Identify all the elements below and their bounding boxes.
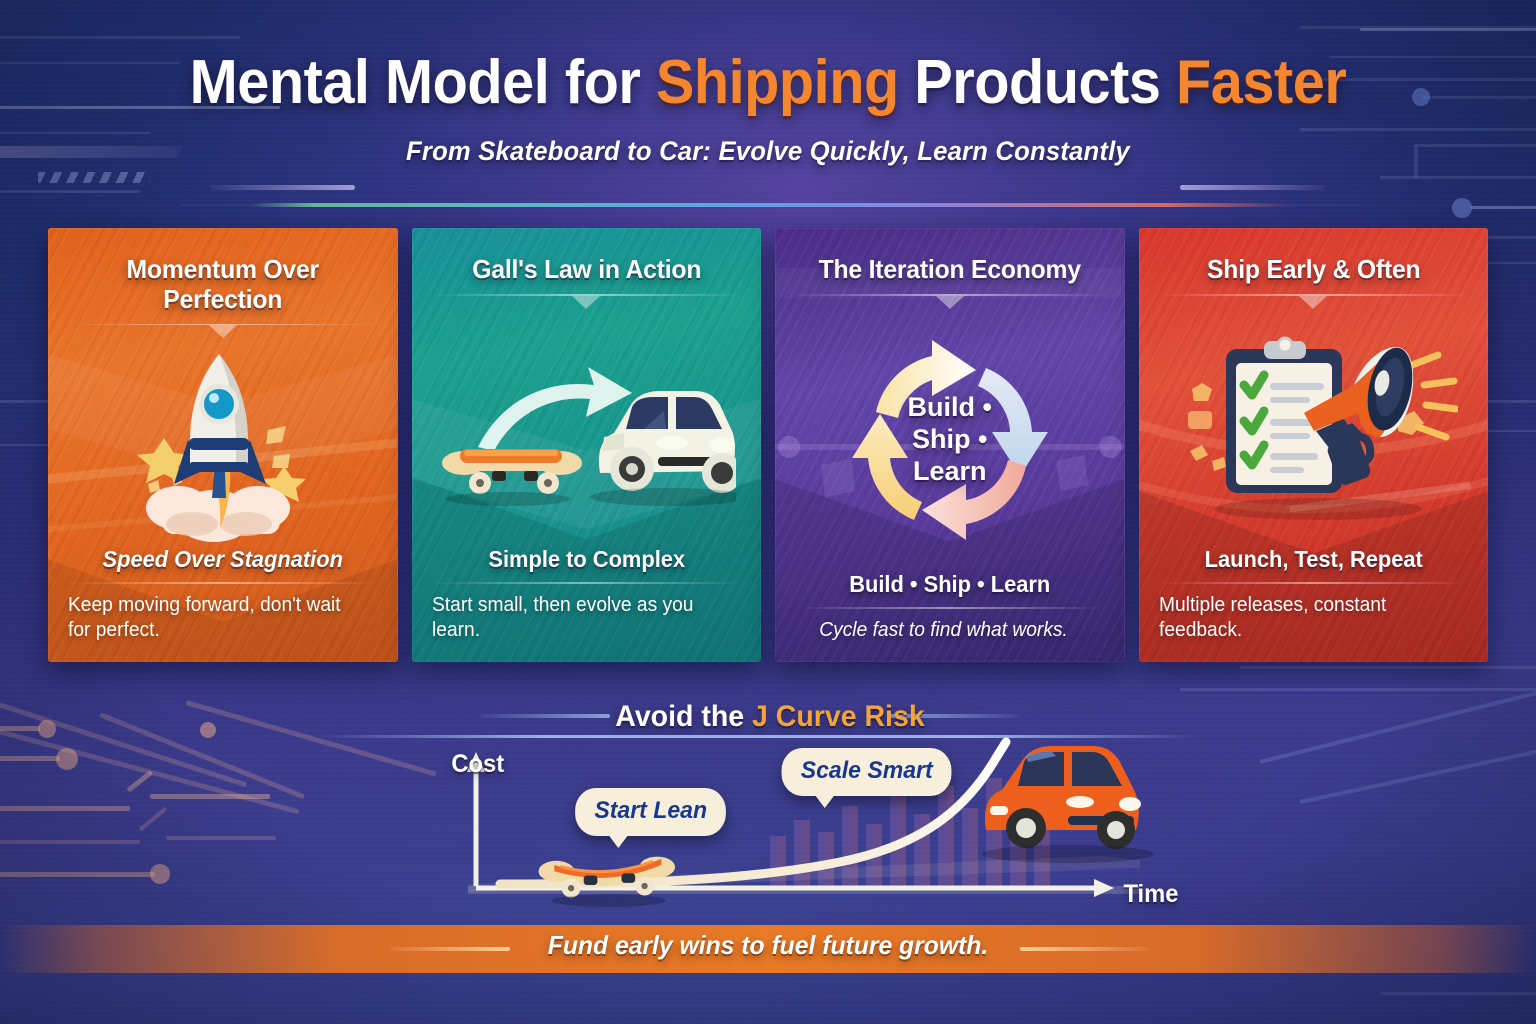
title-segment-3: Products <box>914 48 1176 117</box>
card-foot-body: Multiple releases, constant feedback. <box>1159 593 1456 644</box>
bubble-tail <box>608 834 629 848</box>
card-title: Ship Early & Often <box>1147 228 1479 284</box>
car-icon <box>982 746 1154 863</box>
bubble-start-lean: Start Lean <box>575 788 726 836</box>
cycle-label-learn: Learn <box>775 456 1125 488</box>
page-subtitle: From Skateboard to Car: Evolve Quickly, … <box>406 136 1130 167</box>
card-foot-body: Keep moving forward, don't wait for perf… <box>68 593 365 644</box>
title-highlight-faster: Faster <box>1176 48 1346 117</box>
card-foot-rule <box>1159 582 1469 584</box>
card-foot-heading: Launch, Test, Repeat <box>1166 546 1460 573</box>
cycle-arrows-icon: Build • Ship • Learn <box>775 309 1125 571</box>
rocket-icon <box>48 338 398 546</box>
jcurve-title-highlight: J Curve Risk <box>752 700 925 733</box>
subtitle-dash-right <box>1180 185 1325 190</box>
card-title: The Iteration Economy <box>784 228 1116 284</box>
card-title-notch <box>936 296 964 309</box>
subtitle-wrap: From Skateboard to Car: Evolve Quickly, … <box>0 136 1536 167</box>
bubble-scale-smart-label: Scale Smart <box>801 757 933 784</box>
card-title: Momentum Over Perfection <box>57 228 389 314</box>
y-axis-label: Cost <box>451 750 504 779</box>
card-galls-law-in-action[interactable]: Gall's Law in Action <box>412 228 762 662</box>
card-foot-body: Start small, then evolve as you learn. <box>432 593 729 644</box>
card-title-notch <box>209 325 237 338</box>
card-footer: Build • Ship • Learn Cycle fast to find … <box>775 571 1125 662</box>
card-footer: Speed Over Stagnation Keep moving forwar… <box>48 546 398 662</box>
subtitle-dash-left <box>210 185 355 190</box>
jcurve-title: Avoid the J Curve Risk <box>324 700 1217 734</box>
card-momentum-over-perfection[interactable]: Momentum Over Perfection <box>48 228 398 662</box>
card-title-notch <box>1299 296 1327 309</box>
title-segment-1: Mental Model <box>190 48 565 117</box>
bubble-tail <box>814 794 835 808</box>
jcurve-chart: Start Lean Scale Smart <box>440 736 1200 916</box>
cycle-label-build: Build • <box>775 392 1125 424</box>
card-foot-heading: Simple to Complex <box>439 546 733 573</box>
card-footer: Simple to Complex Start small, then evol… <box>412 546 762 662</box>
page-title: Mental Model for Shipping Products Faste… <box>54 52 1482 114</box>
card-foot-rule <box>795 607 1105 609</box>
card-foot-rule <box>68 582 378 584</box>
bubble-start-lean-label: Start Lean <box>594 797 707 824</box>
bubble-scale-smart: Scale Smart <box>782 748 952 796</box>
card-foot-heading: Speed Over Stagnation <box>76 546 370 573</box>
jcurve-title-prefix: Avoid the <box>615 700 752 733</box>
cards-row: Momentum Over Perfection <box>48 228 1488 662</box>
card-ship-early-and-often[interactable]: Ship Early & Often <box>1139 228 1489 662</box>
card-title: Gall's Law in Action <box>420 228 752 284</box>
footer-text: Fund early wins to fuel future growth. <box>38 930 1497 961</box>
skateboard-to-car-icon <box>412 309 762 546</box>
infographic-poster: Mental Model for Shipping Products Faste… <box>0 0 1536 1024</box>
card-title-notch <box>572 296 600 309</box>
title-highlight-shipping: Shipping <box>656 48 914 117</box>
card-foot-rule <box>432 582 742 584</box>
clipboard-megaphone-icon <box>1139 309 1489 546</box>
card-foot-heading: Build • Ship • Learn <box>803 571 1097 598</box>
subtitle-underline <box>250 203 1290 207</box>
header: Mental Model for Shipping Products Faste… <box>0 0 1536 167</box>
x-axis-label: Time <box>1123 880 1178 909</box>
card-foot-body: Cycle fast to find what works. <box>795 618 1092 644</box>
cycle-label-ship: Ship • <box>775 424 1125 456</box>
title-segment-2: for <box>565 48 656 117</box>
card-the-iteration-economy[interactable]: The Iteration Economy <box>775 228 1125 662</box>
card-footer: Launch, Test, Repeat Multiple releases, … <box>1139 546 1489 662</box>
